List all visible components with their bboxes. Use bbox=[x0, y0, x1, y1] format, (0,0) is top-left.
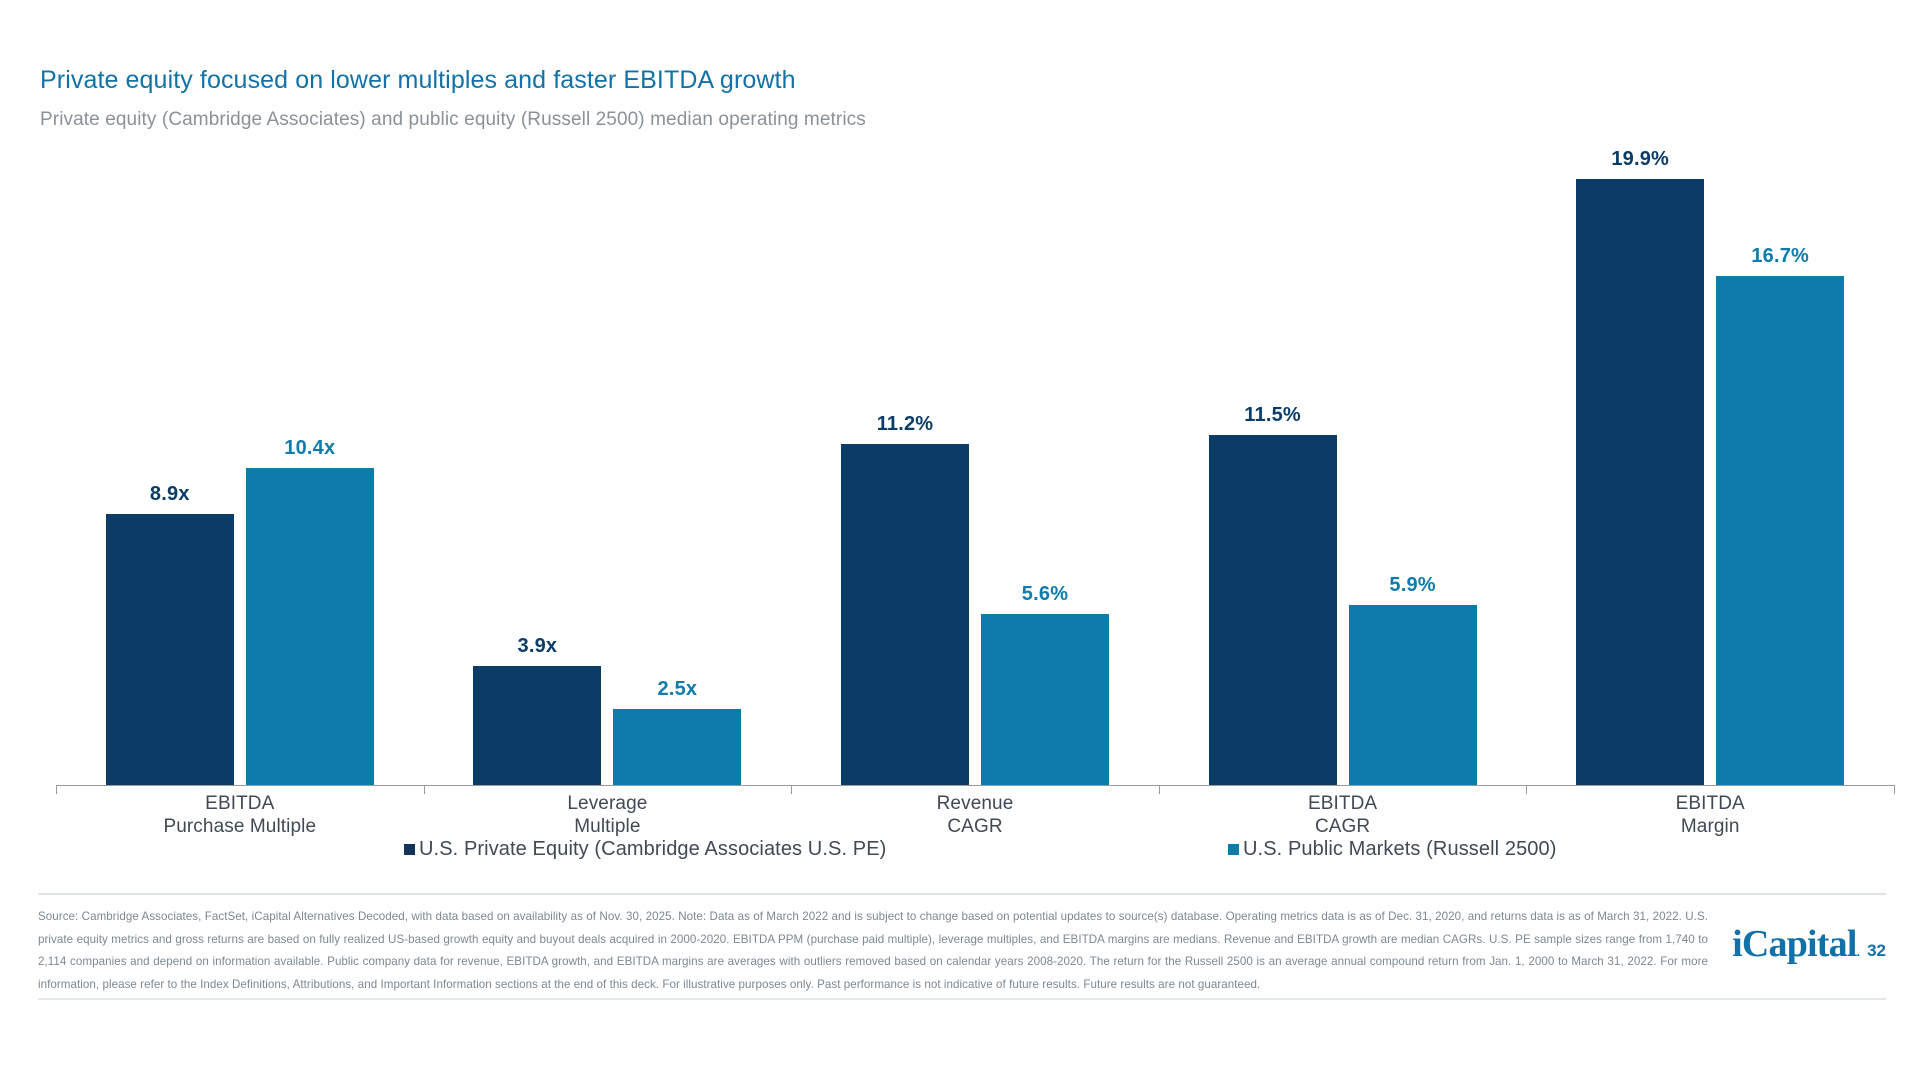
x-axis-category-label-line: Multiple bbox=[427, 815, 787, 838]
x-axis-category-label-line: Leverage bbox=[427, 792, 787, 815]
legend-item-private-equity[interactable]: U.S. Private Equity (Cambridge Associate… bbox=[404, 838, 886, 861]
bars-container: 8.9x10.4x3.9x2.5x11.2%5.6%11.5%5.9%19.9%… bbox=[56, 130, 1894, 785]
x-axis-category-label-line: CAGR bbox=[1163, 815, 1523, 838]
x-axis-category-label: EBITDAPurchase Multiple bbox=[60, 792, 420, 838]
bar[interactable] bbox=[1209, 435, 1337, 785]
bar-chart-plot-area: 8.9x10.4x3.9x2.5x11.2%5.6%11.5%5.9%19.9%… bbox=[56, 130, 1894, 785]
legend-item-public-markets[interactable]: U.S. Public Markets (Russell 2500) bbox=[1228, 838, 1557, 861]
x-axis-tick bbox=[791, 785, 792, 794]
bar[interactable] bbox=[246, 468, 374, 785]
bar-value-label: 8.9x bbox=[70, 483, 270, 506]
bar-value-label: 16.7% bbox=[1680, 245, 1880, 268]
x-axis-category-label-line: Revenue bbox=[795, 792, 1155, 815]
bar[interactable] bbox=[1576, 179, 1704, 785]
slide-canvas: Private equity focused on lower multiple… bbox=[0, 0, 1920, 1080]
brand-block: iCapital. 32 bbox=[1732, 925, 1886, 963]
x-axis-category-label: EBITDAMargin bbox=[1530, 792, 1890, 838]
bar[interactable] bbox=[613, 709, 741, 785]
x-axis-category-label-line: Margin bbox=[1530, 815, 1890, 838]
chart-header: Private equity focused on lower multiple… bbox=[40, 66, 1740, 132]
bar-group-item[interactable]: 5.9% bbox=[1349, 130, 1477, 785]
bar-value-label: 11.5% bbox=[1173, 404, 1373, 427]
legend-swatch-icon bbox=[1228, 844, 1239, 855]
bar[interactable] bbox=[1349, 605, 1477, 785]
x-axis-tick bbox=[424, 785, 425, 794]
chart-legend: U.S. Private Equity (Cambridge Associate… bbox=[0, 838, 1920, 868]
bar-group-item[interactable]: 19.9% bbox=[1576, 130, 1704, 785]
bar-value-label: 19.9% bbox=[1540, 148, 1740, 171]
bar[interactable] bbox=[981, 614, 1109, 785]
x-axis-tick bbox=[1159, 785, 1160, 794]
footer-divider-bottom bbox=[38, 998, 1886, 1000]
bar-group-item[interactable]: 10.4x bbox=[246, 130, 374, 785]
x-axis-category-label: EBITDACAGR bbox=[1163, 792, 1523, 838]
x-axis-line bbox=[56, 785, 1894, 786]
legend-label: U.S. Private Equity (Cambridge Associate… bbox=[419, 838, 886, 861]
page-subtitle: Private equity (Cambridge Associates) an… bbox=[40, 109, 1740, 132]
bar-value-label: 10.4x bbox=[210, 437, 410, 460]
bar[interactable] bbox=[841, 444, 969, 785]
bar-value-label: 11.2% bbox=[805, 413, 1005, 436]
icapital-logo: iCapital. bbox=[1732, 925, 1859, 963]
x-axis-category-label-line: Purchase Multiple bbox=[60, 815, 420, 838]
footer-divider-top bbox=[38, 893, 1886, 895]
x-axis-category-label: LeverageMultiple bbox=[427, 792, 787, 838]
bar-value-label: 2.5x bbox=[577, 678, 777, 701]
bar-group-item[interactable]: 16.7% bbox=[1716, 130, 1844, 785]
legend-swatch-icon bbox=[404, 844, 415, 855]
bar[interactable] bbox=[1716, 276, 1844, 785]
x-axis-category-label-line: EBITDA bbox=[1530, 792, 1890, 815]
page-title: Private equity focused on lower multiple… bbox=[40, 66, 1740, 95]
bar-group-item[interactable]: 11.5% bbox=[1209, 130, 1337, 785]
x-axis-category-label-line: EBITDA bbox=[60, 792, 420, 815]
bar-group-item[interactable]: 11.2% bbox=[841, 130, 969, 785]
x-axis-tick bbox=[1526, 785, 1527, 794]
x-axis-tick bbox=[56, 785, 57, 794]
legend-label: U.S. Public Markets (Russell 2500) bbox=[1243, 838, 1557, 861]
bar-group-item[interactable]: 2.5x bbox=[613, 130, 741, 785]
x-axis-category-label: RevenueCAGR bbox=[795, 792, 1155, 838]
bar-value-label: 5.9% bbox=[1313, 574, 1513, 597]
icapital-logo-registered-mark: . bbox=[1857, 944, 1859, 959]
page-number: 32 bbox=[1867, 941, 1886, 961]
x-axis-tick bbox=[1894, 785, 1895, 794]
source-footnote: Source: Cambridge Associates, FactSet, i… bbox=[38, 906, 1708, 996]
bar[interactable] bbox=[106, 514, 234, 785]
icapital-logo-text: iCapital bbox=[1732, 923, 1857, 965]
x-axis-category-label-line: EBITDA bbox=[1163, 792, 1523, 815]
bar-group-item[interactable]: 5.6% bbox=[981, 130, 1109, 785]
bar-value-label: 5.6% bbox=[945, 583, 1145, 606]
x-axis-category-label-line: CAGR bbox=[795, 815, 1155, 838]
bar-value-label: 3.9x bbox=[437, 635, 637, 658]
